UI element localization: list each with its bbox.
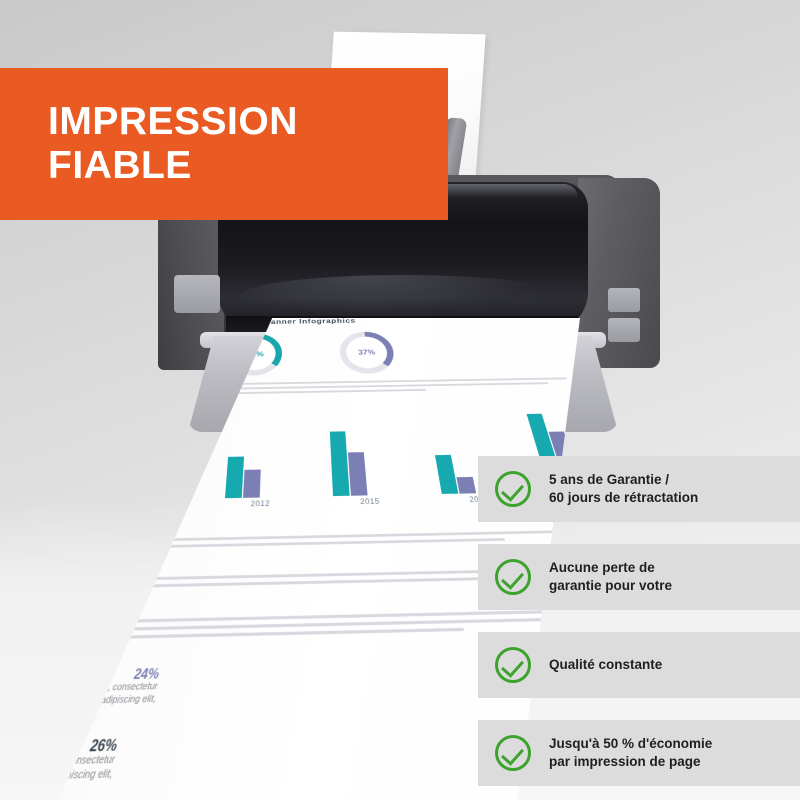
headline-banner: IMPRESSION FIABLE	[0, 68, 448, 220]
panel-button-left[interactable]	[174, 275, 220, 313]
feature-card-4[interactable]: Jusqu'à 50 % d'économie par impression d…	[478, 720, 800, 786]
feature-line-1: Jusqu'à 50 % d'économie	[549, 736, 712, 751]
feature-card-4-text: Jusqu'à 50 % d'économie par impression d…	[549, 735, 712, 771]
panel-button-right-2[interactable]	[608, 318, 640, 342]
feature-line-1: Aucune perte de	[549, 560, 655, 575]
feature-card-1-text: 5 ans de Garantie / 60 jours de rétracta…	[549, 471, 698, 507]
feature-card-3[interactable]: Qualité constante	[478, 632, 800, 698]
feature-line-2: par impression de page	[549, 754, 701, 769]
legend-swatch-icon	[68, 413, 83, 417]
donut-chart-group: 35% 37%	[12, 328, 608, 379]
legend-swatch-icon	[70, 405, 85, 409]
feature-card-2-text: Aucune perte de garantie pour votre	[549, 559, 672, 595]
bar-group	[115, 447, 194, 501]
bar-group	[224, 456, 296, 499]
bar-group	[330, 430, 405, 496]
donut-chart-2: 37%	[339, 331, 397, 374]
feature-card-2[interactable]: Aucune perte de garantie pour votre	[478, 544, 800, 610]
headline-line-2: FIABLE	[48, 144, 448, 188]
panel-button-right-1[interactable]	[608, 288, 640, 312]
check-circle-icon	[495, 471, 531, 507]
headline-line-1: IMPRESSION	[48, 100, 448, 144]
feature-line-1: 5 ans de Garantie /	[549, 472, 669, 487]
feature-card-list: 5 ans de Garantie / 60 jours de rétracta…	[478, 456, 800, 800]
poster-canvas: Banner Infographics 35% 37%	[0, 0, 800, 800]
x-tick-label: 2012	[224, 500, 297, 509]
check-circle-icon	[495, 559, 531, 595]
x-tick-label: 2015	[334, 498, 407, 507]
feature-line-2: 60 jours de rétractation	[549, 490, 698, 505]
feature-card-3-text: Qualité constante	[549, 656, 662, 674]
check-circle-icon	[495, 735, 531, 771]
legend-label: Step 02	[86, 412, 112, 418]
legend-label: Step 01	[88, 404, 113, 410]
feature-card-1[interactable]: 5 ans de Garantie / 60 jours de rétracta…	[478, 456, 800, 522]
donut-chart-2-label: 37%	[358, 348, 376, 356]
feature-line-2: garantie pour votre	[549, 578, 672, 593]
check-circle-icon	[495, 647, 531, 683]
intro-text-block	[51, 377, 571, 397]
